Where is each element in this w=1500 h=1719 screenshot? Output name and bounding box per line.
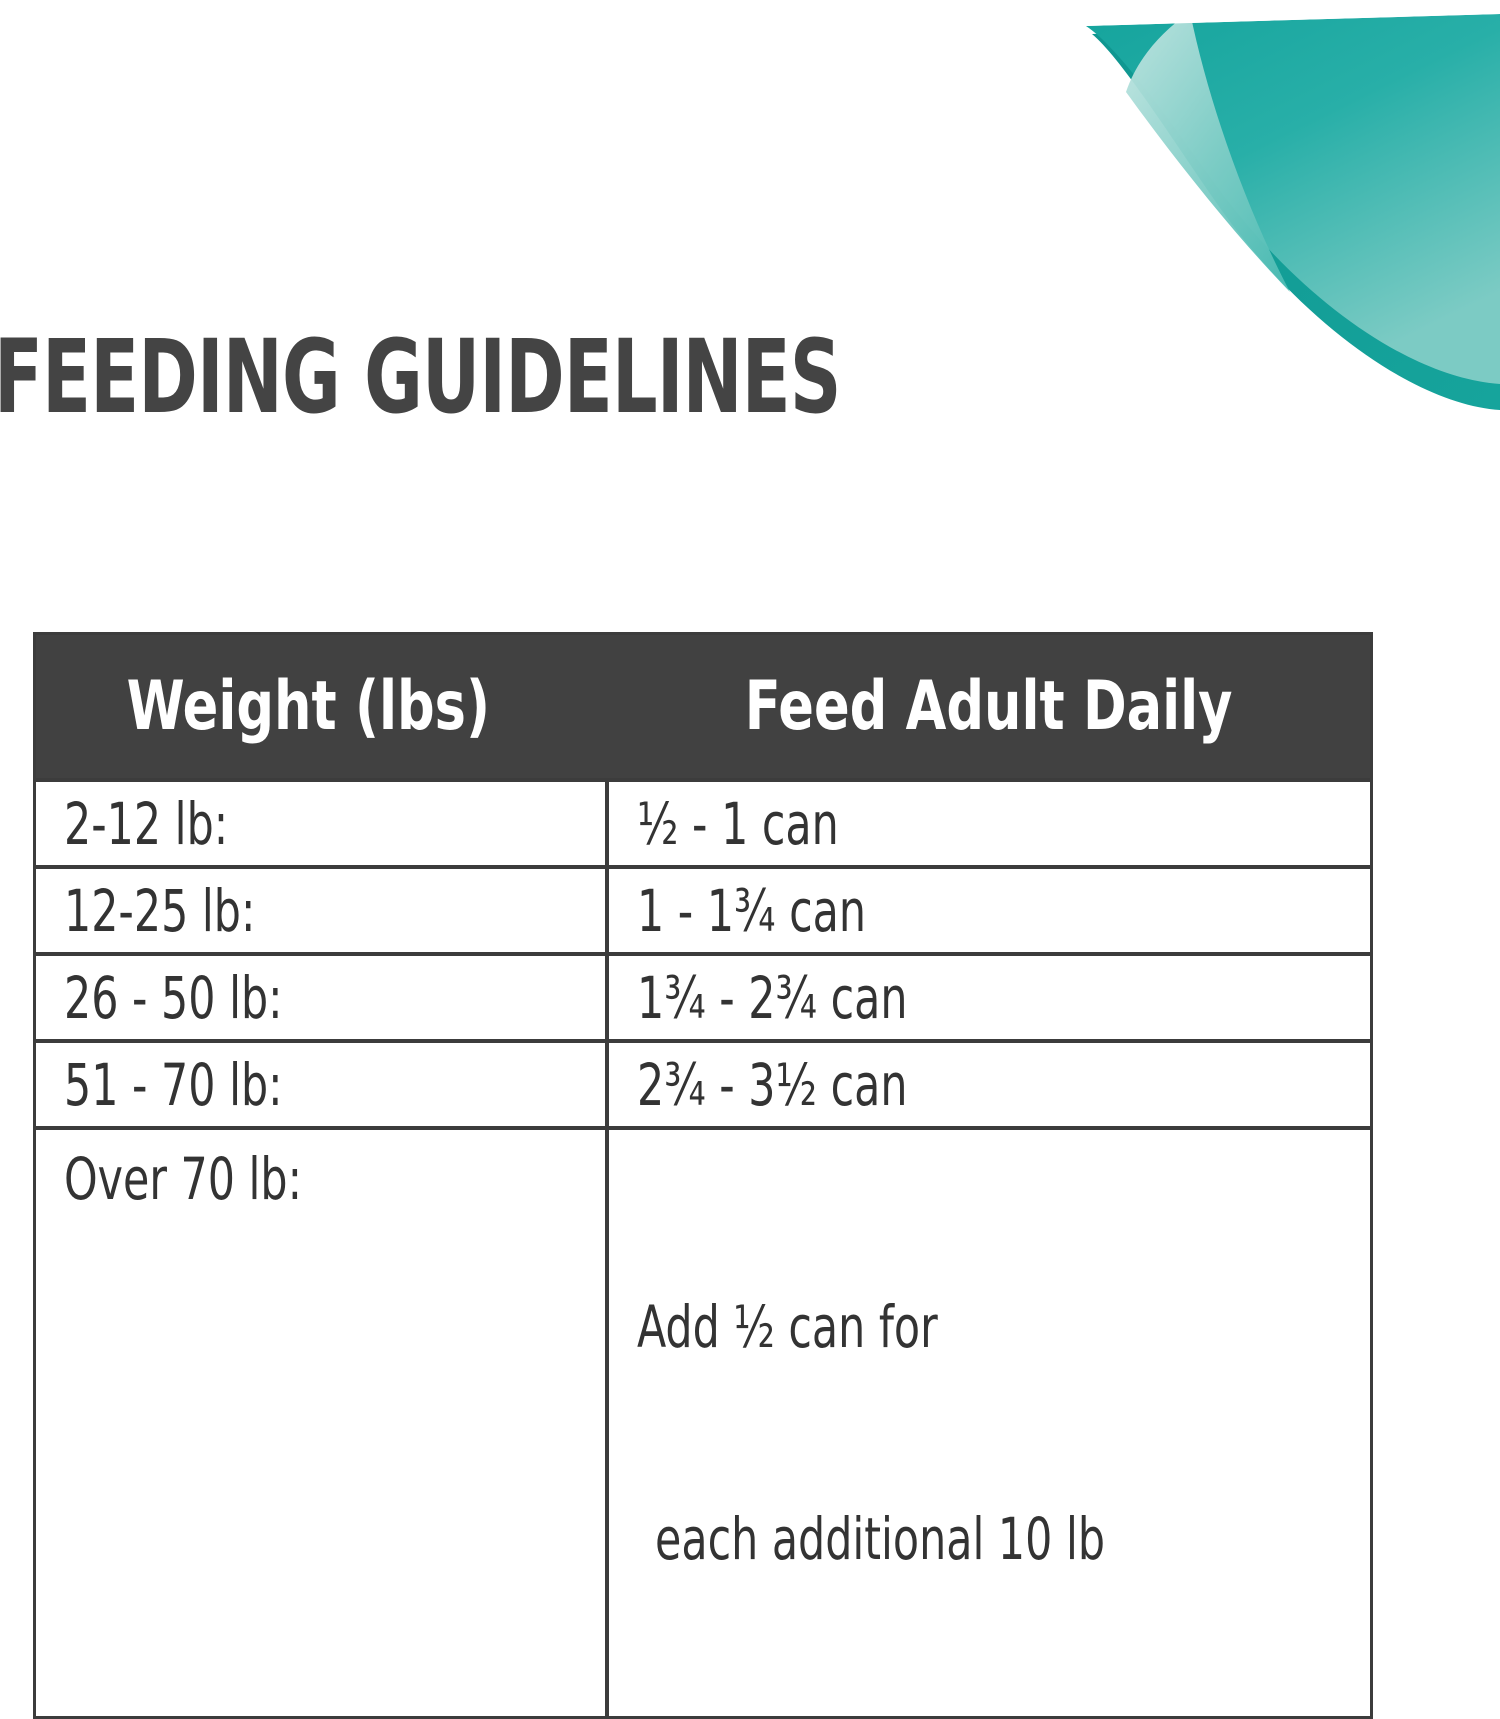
- cell-feed: 1 - 1¾ can: [607, 867, 1370, 954]
- cell-weight-value: 51 - 70 lb:: [64, 1056, 283, 1114]
- cell-weight: 51 - 70 lb:: [36, 1041, 607, 1128]
- column-header-weight-label: Weight (lbs): [127, 667, 516, 746]
- cell-weight-value: Over 70 lb:: [64, 1150, 302, 1208]
- cell-weight: 2-12 lb:: [36, 780, 607, 867]
- cell-feed: ½ - 1 can: [607, 780, 1370, 867]
- column-header-weight: Weight (lbs): [36, 635, 607, 780]
- feeding-guidelines-table: Weight (lbs) Feed Adult Daily 2-12 lb: ½…: [33, 632, 1373, 1719]
- cell-feed-value: 1 - 1¾ can: [637, 882, 866, 940]
- cell-feed: 2¾ - 3½ can: [607, 1041, 1370, 1128]
- table-row: 12-25 lb: 1 - 1¾ can: [36, 867, 1370, 954]
- cell-feed-value-multiline: Add ½ can for each additional 10 lb: [637, 1150, 1105, 1716]
- cell-weight: 12-25 lb:: [36, 867, 607, 954]
- table-row: 26 - 50 lb: 1¾ - 2¾ can: [36, 954, 1370, 1041]
- table-row: 51 - 70 lb: 2¾ - 3½ can: [36, 1041, 1370, 1128]
- cell-feed: Add ½ can for each additional 10 lb: [607, 1128, 1370, 1716]
- cell-weight-value: 12-25 lb:: [64, 882, 255, 940]
- table-row: Over 70 lb: Add ½ can for each additiona…: [36, 1128, 1370, 1716]
- cell-feed-line-1: Add ½ can for: [637, 1292, 1105, 1363]
- cell-feed-value: 2¾ - 3½ can: [637, 1056, 907, 1114]
- teal-swoosh-graphic: [1040, 0, 1500, 600]
- page-title: FEEDING GUIDELINES: [0, 327, 696, 429]
- cell-weight-value: 26 - 50 lb:: [64, 969, 283, 1027]
- cell-weight: Over 70 lb:: [36, 1128, 607, 1716]
- cell-weight: 26 - 50 lb:: [36, 954, 607, 1041]
- cell-feed: 1¾ - 2¾ can: [607, 954, 1370, 1041]
- cell-feed-value: ½ - 1 can: [637, 795, 839, 853]
- cell-feed-value: 1¾ - 2¾ can: [637, 969, 907, 1027]
- column-header-feed-label: Feed Adult Daily: [745, 667, 1233, 746]
- cell-weight-value: 2-12 lb:: [64, 795, 228, 853]
- table-row: 2-12 lb: ½ - 1 can: [36, 780, 1370, 867]
- column-header-feed: Feed Adult Daily: [607, 635, 1370, 780]
- cell-feed-line-2: each additional 10 lb: [637, 1504, 1105, 1575]
- table-header-row: Weight (lbs) Feed Adult Daily: [36, 635, 1370, 780]
